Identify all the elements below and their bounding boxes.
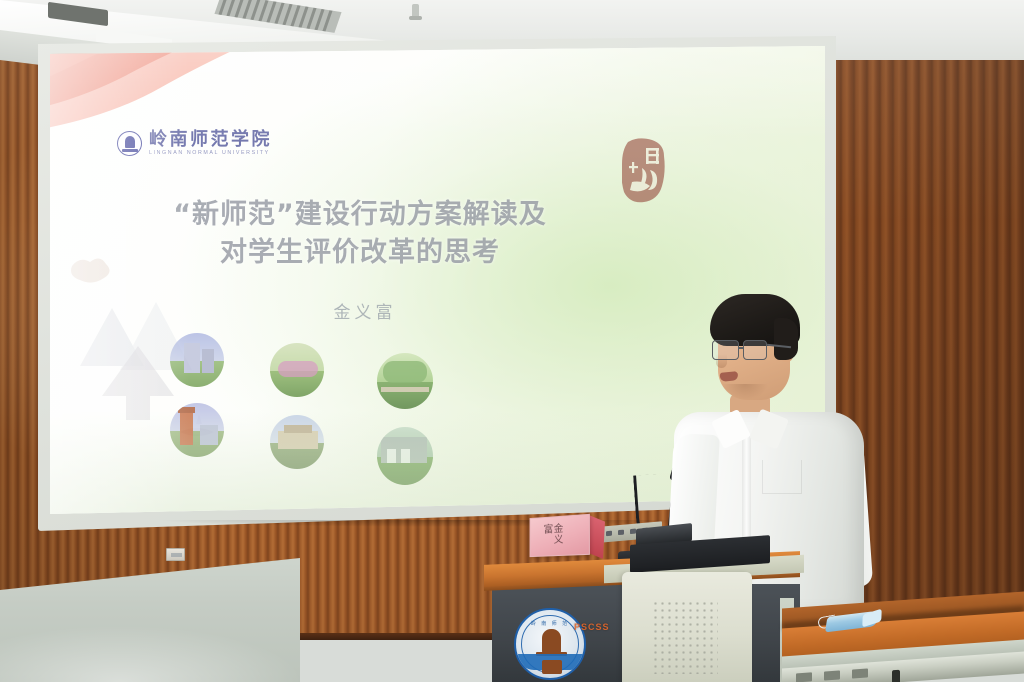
control-console-panel[interactable] [622, 572, 752, 682]
face-mask-icon[interactable] [818, 610, 886, 630]
glasses-bridge [739, 347, 744, 349]
lectern-podium: 岭 南 师 范 PSCSS 金义富 [444, 552, 800, 682]
list-item [170, 333, 224, 387]
lecture-hall-scene: 岭南师范学院 LINGNAN NORMAL UNIVERSITY “新师范”建设… [0, 0, 1024, 682]
list-item [170, 403, 224, 457]
list-item [377, 353, 433, 409]
slide-title: “新师范”建设行动方案解读及 对学生评价改革的思考 [50, 196, 670, 273]
glasses-lens-right [743, 340, 767, 360]
university-crest-roundel-icon: 岭 南 师 范 [514, 608, 586, 680]
bell-tower-roundel-icon [117, 131, 142, 156]
university-name-en: LINGNAN NORMAL UNIVERSITY [149, 151, 272, 156]
university-name-cn: 岭南师范学院 [149, 131, 272, 149]
tent-card-nameplate-icon: 金义富 [528, 516, 604, 558]
university-logo: 岭南师范学院 LINGNAN NORMAL UNIVERSITY [117, 131, 272, 156]
red-seal-stamp-icon [622, 136, 666, 204]
nameplate-name-text: 金义富 [544, 523, 561, 556]
podium-brand-text: PSCSS [574, 622, 610, 632]
list-item [270, 415, 324, 469]
university-logo-text: 岭南师范学院 LINGNAN NORMAL UNIVERSITY [149, 131, 272, 156]
sprinkler-icon [412, 4, 419, 18]
slide-title-line2: 对学生评价改革的思考 [50, 234, 670, 272]
slide-title-line1: “新师范”建设行动方案解读及 [173, 199, 547, 230]
perforated-speaker-grille-icon [652, 600, 718, 674]
campus-photo-grid [170, 331, 590, 491]
wall-outlet-icon[interactable] [166, 548, 185, 561]
glasses-lens-left [712, 340, 739, 360]
counter-icon [782, 600, 1024, 682]
crest-bottom-glyph [542, 660, 562, 674]
glasses-icon [710, 340, 792, 362]
slide-presenter-name: 金义富 [50, 298, 680, 323]
nameplate-front-face: 金义富 [530, 514, 590, 557]
pocket-icon [762, 460, 802, 494]
glasses-temple [767, 344, 791, 348]
counter-clamp[interactable] [892, 670, 900, 682]
list-item [270, 343, 324, 397]
crest-bell [542, 629, 561, 653]
list-item [377, 427, 433, 485]
